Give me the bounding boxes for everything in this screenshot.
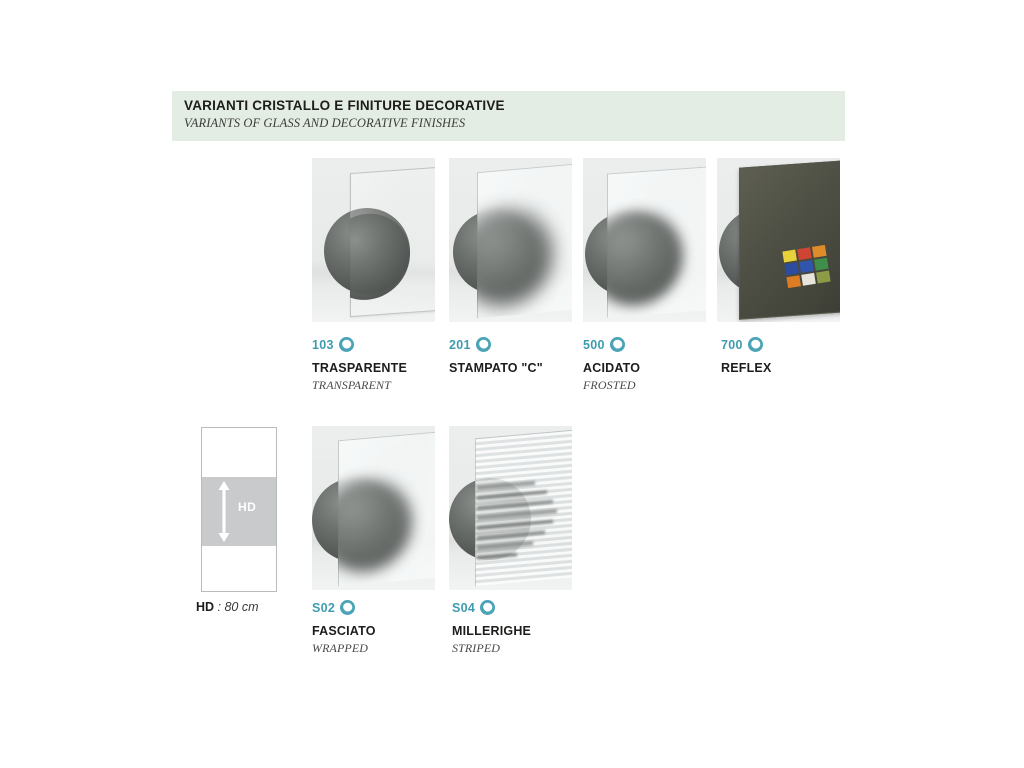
- sample-label-trasparente: 103 TRASPARENTE TRANSPARENT: [312, 336, 462, 393]
- glass-droplet-icon: [476, 337, 491, 352]
- hd-caption-label: HD: [196, 600, 214, 614]
- sample-name-it: MILLERIGHE: [452, 624, 602, 638]
- sample-code-row: 500: [583, 336, 733, 353]
- glass-droplet-icon: [340, 600, 355, 615]
- photo-stampato-c: [449, 158, 572, 322]
- checker-swatch: [782, 250, 797, 263]
- sphere-through-glass: [350, 211, 410, 303]
- streak-line: [477, 481, 535, 490]
- checker-swatch: [797, 247, 812, 260]
- sample-code: 201: [449, 338, 471, 352]
- page-subtitle: VARIANTS OF GLASS AND DECORATIVE FINISHE…: [184, 116, 465, 131]
- streak-line: [477, 499, 553, 510]
- sample-code: 700: [721, 338, 743, 352]
- streak-line: [477, 530, 545, 540]
- photo-trasparente: [312, 158, 435, 322]
- sample-code: S04: [452, 601, 475, 615]
- sample-name-en: WRAPPED: [312, 641, 462, 656]
- sample-name-en: STRIPED: [452, 641, 602, 656]
- hd-double-arrow-icon: [218, 481, 230, 542]
- sample-image-stampato-c: [449, 158, 572, 322]
- glass-droplet-icon: [610, 337, 625, 352]
- photo-millerighe: [449, 426, 572, 590]
- sample-image-acidato: [583, 158, 706, 322]
- glass-view-region: [477, 164, 572, 318]
- streak-line: [477, 509, 557, 520]
- photo-fasciato: [312, 426, 435, 590]
- sample-name-it: STAMPATO "C": [449, 361, 599, 375]
- streak-group: [475, 430, 572, 587]
- sample-code-row: S04: [452, 599, 602, 616]
- sample-name-it: REFLEX: [721, 361, 871, 375]
- glass-droplet-icon: [339, 337, 354, 352]
- sample-image-reflex: [717, 158, 840, 322]
- sample-code-row: 700: [721, 336, 871, 353]
- sample-label-fasciato: S02 FASCIATO WRAPPED: [312, 599, 462, 656]
- streak-line: [477, 490, 547, 500]
- hd-diagram-label: HD: [238, 500, 256, 514]
- glass-view-region: [607, 167, 706, 318]
- hd-caption-value: 80 cm: [224, 600, 258, 614]
- glass-view-region: [475, 430, 572, 587]
- checker-swatch: [814, 258, 829, 271]
- checker-swatch: [786, 275, 801, 288]
- photo-reflex: [717, 158, 840, 322]
- sample-code: S02: [312, 601, 335, 615]
- sample-code-row: 201: [449, 336, 599, 353]
- photo-acidato: [583, 158, 706, 322]
- checker-swatch: [801, 273, 816, 286]
- checker-swatch: [799, 260, 814, 273]
- streak-line: [477, 519, 553, 530]
- sample-image-millerighe: [449, 426, 572, 590]
- hd-caption-separator: :: [214, 600, 224, 614]
- sample-image-fasciato: [312, 426, 435, 590]
- checker-swatch: [816, 271, 831, 284]
- sample-label-reflex: 700 REFLEX: [721, 336, 871, 378]
- sample-label-stampato-c: 201 STAMPATO "C": [449, 336, 599, 378]
- sample-name-en: TRANSPARENT: [312, 378, 462, 393]
- glass-view-region: [350, 167, 435, 315]
- sample-name-en: FROSTED: [583, 378, 733, 393]
- glass-droplet-icon: [748, 337, 763, 352]
- sample-label-millerighe: S04 MILLERIGHE STRIPED: [452, 599, 602, 656]
- sample-name-it: FASCIATO: [312, 624, 462, 638]
- sample-name-it: TRASPARENTE: [312, 361, 462, 375]
- hd-dimension-diagram: HD: [201, 427, 277, 592]
- page-root: VARIANTI CRISTALLO E FINITURE DECORATIVE…: [0, 0, 1024, 768]
- glass-droplet-icon: [480, 600, 495, 615]
- glass-pane-reflex: [739, 160, 840, 319]
- section-header-banner: VARIANTI CRISTALLO E FINITURE DECORATIVE…: [172, 91, 845, 141]
- page-title: VARIANTI CRISTALLO E FINITURE DECORATIVE: [184, 98, 505, 113]
- sample-code-row: 103: [312, 336, 462, 353]
- checker-swatch: [812, 245, 827, 258]
- streak-line: [477, 553, 517, 560]
- sample-code: 103: [312, 338, 334, 352]
- sample-image-trasparente: [312, 158, 435, 322]
- sample-name-it: ACIDATO: [583, 361, 733, 375]
- streak-line: [477, 541, 533, 550]
- sample-code-row: S02: [312, 599, 462, 616]
- checker-swatch: [784, 262, 799, 275]
- sample-label-acidato: 500 ACIDATO FROSTED: [583, 336, 733, 393]
- color-checker-chart: [782, 245, 830, 288]
- sample-code: 500: [583, 338, 605, 352]
- glass-view-region: [338, 432, 435, 587]
